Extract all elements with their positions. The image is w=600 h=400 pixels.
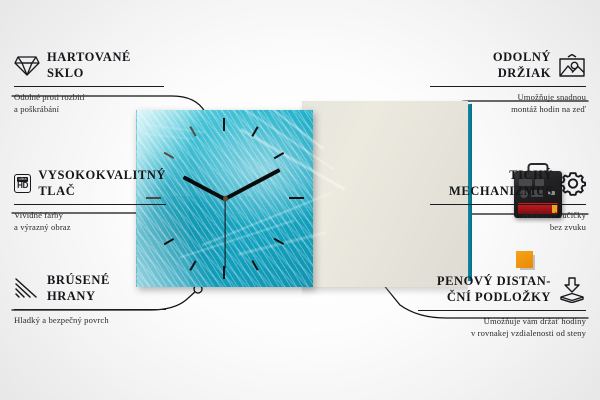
tick-2 — [274, 152, 284, 159]
feature-desc-line1: Hodinové ručičky — [430, 209, 586, 221]
feature-title-line2: HRANY — [47, 289, 110, 305]
product-infographic: HARTOVANÉ SKLO Odolné proti rozbití a po… — [0, 0, 600, 400]
tick-7 — [189, 260, 196, 270]
feature-desc-line2: a poškrábání — [14, 103, 164, 115]
feature-desc-line2: v rovnakej vzdialenosti od steny — [418, 327, 586, 339]
feature-title-line1: ODOLNÝ — [493, 50, 551, 66]
diamond-icon — [14, 54, 40, 77]
feature-silent-mechanism: TICHÝ MECHANIZMUS Hodinové ručičky bez z… — [430, 168, 586, 233]
tick-5 — [251, 260, 258, 270]
feature-title-line2: DRŽIAK — [493, 66, 551, 82]
second-hand — [224, 199, 225, 269]
wall-hanger-icon — [558, 54, 586, 78]
feature-durable-hanger: ODOLNÝ DRŽIAK Umožňuje snadnou montáž ho… — [430, 50, 586, 115]
ultra-hd-icon: ultra HD — [14, 174, 31, 193]
gear-icon — [560, 171, 586, 196]
feature-beveled-edges: BRÚSENÉ HRANY Hladký a bezpečný povrch — [14, 273, 166, 326]
product-photo — [136, 101, 468, 296]
tick-3 — [289, 197, 304, 199]
feature-title-line2: ČNÍ PODLOŽKY — [437, 290, 551, 306]
divider — [14, 309, 166, 310]
feature-desc-line1: Vividné farby — [14, 209, 166, 221]
feature-title-line1: VYSOKOKVALITNÝ — [38, 168, 166, 184]
feature-title-line2: MECHANIZMUS — [449, 184, 553, 200]
feature-title-line1: PENOVÝ DISTAN- — [437, 274, 551, 290]
feature-desc-line1: Umožňuje snadnou — [430, 91, 586, 103]
beveled-edge-icon — [14, 277, 40, 300]
feature-title-line1: HARTOVANÉ — [47, 50, 131, 66]
feature-title-line2: SKLO — [47, 66, 131, 82]
feature-desc-line1: Hladký a bezpečný povrch — [14, 314, 166, 326]
hd-badge-hd: HD — [17, 182, 28, 190]
divider — [418, 310, 586, 311]
feature-hardened-glass: HARTOVANÉ SKLO Odolné proti rozbití a po… — [14, 50, 164, 115]
center-pin — [223, 196, 228, 201]
feature-desc-line1: Odolné proti rozbití — [14, 91, 164, 103]
feature-foam-spacers: PENOVÝ DISTAN- ČNÍ PODLOŽKY Umožňuje vám… — [418, 274, 586, 339]
feature-desc-line2: montáž hodin na zeď — [430, 103, 586, 115]
tick-12 — [223, 118, 225, 131]
feature-high-quality-print: ultra HD VYSOKOKVALITNÝ TLAČ Vividné far… — [14, 168, 166, 233]
feature-desc-line1: Umožňuje vám držať hodiny — [418, 315, 586, 327]
foam-distance-pad — [516, 251, 533, 268]
foam-pad-icon — [558, 277, 586, 303]
feature-desc-line2: bez zvuku — [430, 221, 586, 233]
divider — [14, 204, 166, 205]
feature-title-line1: BRÚSENÉ — [47, 273, 110, 289]
feature-title-line2: TLAČ — [38, 184, 166, 200]
divider — [430, 86, 586, 87]
divider — [430, 204, 586, 205]
divider — [14, 86, 164, 87]
feature-desc-line2: a výrazný obraz — [14, 221, 166, 233]
feature-title-line1: TICHÝ — [449, 168, 553, 184]
